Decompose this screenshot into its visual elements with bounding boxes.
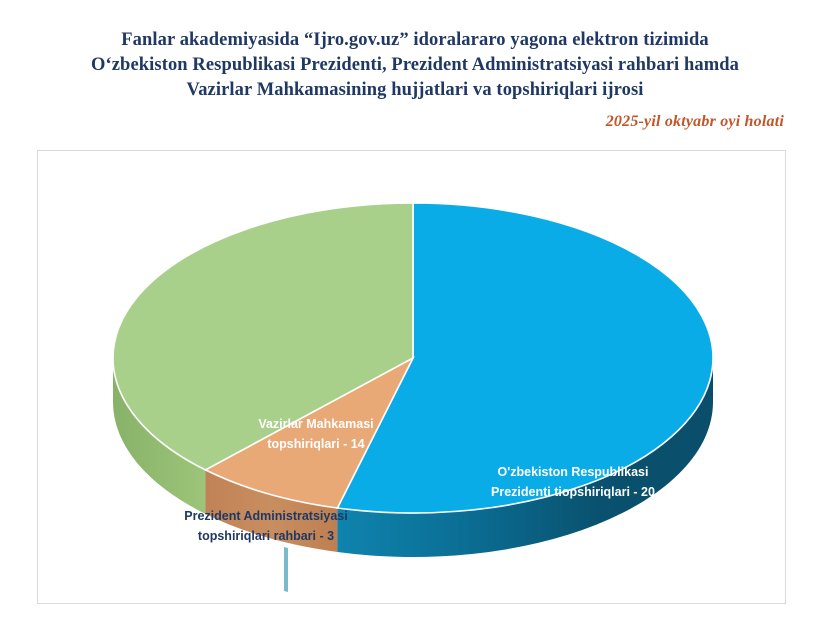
chart-frame: O'zbekiston Respublikasi Prezidenti tiop… <box>37 150 786 604</box>
page-title: Fanlar akademiyasida “Ijro.gov.uz” idora… <box>0 28 830 103</box>
title-line-1: Fanlar akademiyasida “Ijro.gov.uz” idora… <box>0 28 830 53</box>
slide-canvas: Fanlar akademiyasida “Ijro.gov.uz” idora… <box>0 0 830 625</box>
subtitle-period: 2025-yil oktyabr oyi holati <box>606 113 784 131</box>
title-line-3: Vazirlar Mahkamasining hujjatlari va top… <box>0 78 830 103</box>
title-line-2: O‘zbekiston Respublikasi Prezidenti, Pre… <box>0 53 830 78</box>
pie-chart-3d <box>38 151 787 605</box>
